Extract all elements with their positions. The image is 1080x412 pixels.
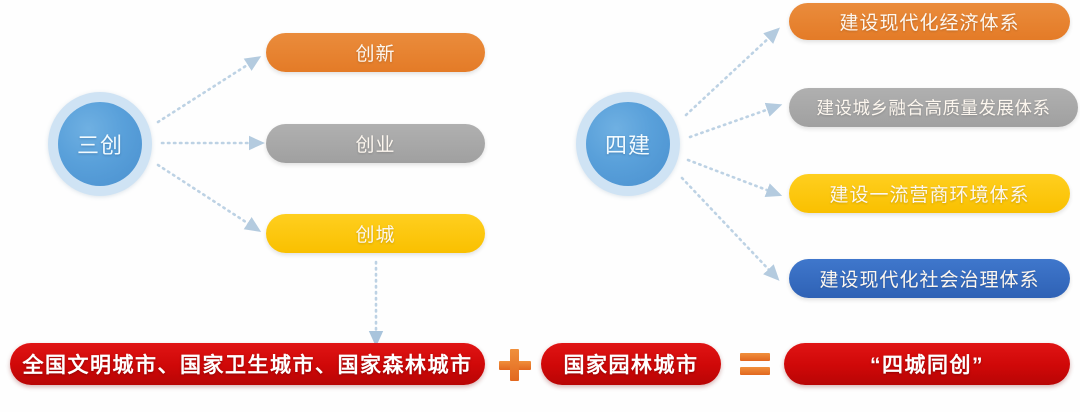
- hub-circle-si-jian[interactable]: 四建: [576, 92, 680, 196]
- banner-term-1[interactable]: 全国文明城市、国家卫生城市、国家森林城市: [10, 343, 485, 385]
- pill-social-governance-system[interactable]: 建设现代化社会治理体系: [789, 259, 1070, 298]
- pill-business-environment-system[interactable]: 建设一流营商环境体系: [789, 174, 1070, 213]
- pill-chuang-cheng[interactable]: 创城: [266, 214, 485, 253]
- pill-label-chuang-ye: 创业: [355, 130, 395, 157]
- hub-circle-inner-right: 四建: [586, 102, 670, 186]
- pill-urban-rural-system[interactable]: 建设城乡融合高质量发展体系: [789, 88, 1078, 127]
- hub-label-si-jian: 四建: [605, 128, 651, 160]
- pill-label-social-governance-system: 建设现代化社会治理体系: [819, 265, 1039, 292]
- banner-result[interactable]: “四城同创”: [784, 343, 1070, 385]
- hub-circle-inner: 三创: [58, 102, 142, 186]
- hub-label-san-chuang: 三创: [77, 128, 123, 160]
- hub-circle-san-chuang[interactable]: 三创: [48, 92, 152, 196]
- pill-label-chuang-xin: 创新: [355, 39, 395, 66]
- banner-term-2[interactable]: 国家园林城市: [541, 343, 721, 385]
- diagram-canvas: 三创 创新 创业 创城 四建 建设现代化经济体系 建设城乡融合高质量发展体系 建…: [0, 0, 1080, 412]
- pill-chuang-ye[interactable]: 创业: [266, 124, 485, 163]
- banner-result-label: “四城同创”: [870, 349, 984, 379]
- pill-economic-system[interactable]: 建设现代化经济体系: [789, 3, 1070, 40]
- pill-label-economic-system: 建设现代化经济体系: [839, 8, 1019, 35]
- plus-icon: [498, 348, 532, 382]
- right-connectors: [682, 35, 772, 273]
- pill-label-urban-rural-system: 建设城乡融合高质量发展体系: [817, 95, 1051, 120]
- pill-label-business-environment-system: 建设一流营商环境体系: [829, 180, 1029, 207]
- banner-term-2-label: 国家园林城市: [564, 349, 699, 379]
- banner-term-1-label: 全国文明城市、国家卫生城市、国家森林城市: [23, 349, 473, 379]
- pill-chuang-xin[interactable]: 创新: [266, 33, 485, 72]
- equals-icon: [740, 350, 770, 378]
- pill-label-chuang-cheng: 创城: [355, 220, 395, 247]
- left-connectors: [158, 62, 254, 226]
